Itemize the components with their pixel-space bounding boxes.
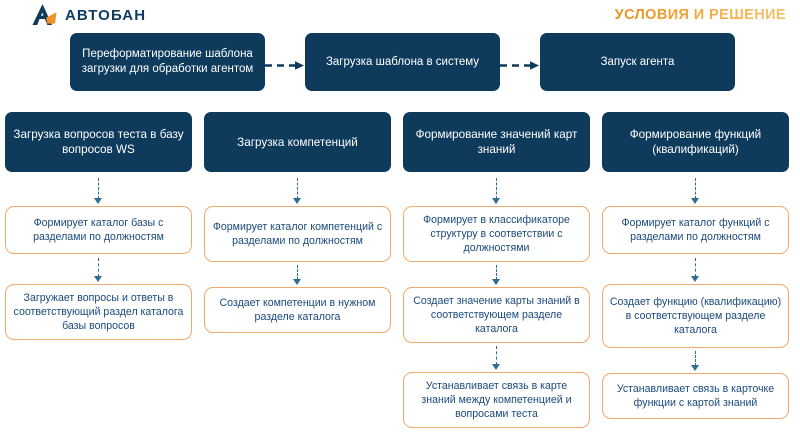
column-header-questions[interactable]: Загрузка вопросов теста в базу вопросов … xyxy=(5,112,192,172)
column-header-functions[interactable]: Формирование функций (квалификаций) xyxy=(602,112,789,172)
connector-col3-head-to-step1 xyxy=(492,178,501,204)
connector-col2-step1-to-step2 xyxy=(293,265,302,285)
page-header: АВТОБАН УСЛОВИЯ И РЕШЕНИЕ xyxy=(0,0,800,34)
dashed-arrow-right-icon-1 xyxy=(264,61,305,70)
top-process-box-2[interactable]: Загрузка шаблона в систему xyxy=(305,33,500,91)
brand-logo-text: АВТОБАН xyxy=(65,7,146,24)
top-process-box-1[interactable]: Переформатирование шаблона загрузки для … xyxy=(70,33,265,91)
connector-col1-step1-to-step2 xyxy=(94,258,103,282)
step-card-col4-2[interactable]: Создает функцию (квалификацию) в соответ… xyxy=(602,284,789,348)
top-process-row: Переформатирование шаблона загрузки для … xyxy=(0,33,800,95)
top-process-box-3[interactable]: Запуск агента xyxy=(540,33,735,91)
step-card-col3-1[interactable]: Формирует в классификаторе структуру в с… xyxy=(403,206,590,262)
column-header-row: Загрузка вопросов теста в базу вопросов … xyxy=(0,112,800,176)
step-card-col3-3[interactable]: Устанавливает связь в карте знаний между… xyxy=(403,372,590,428)
connector-col3-step1-to-step2 xyxy=(492,265,501,285)
step-card-col1-2[interactable]: Загружает вопросы и ответы в соответству… xyxy=(5,284,192,340)
column-header-knowledge-maps[interactable]: Формирование значений карт знаний xyxy=(403,112,590,172)
dashed-arrow-right-icon-2 xyxy=(499,61,540,70)
step-card-col2-2[interactable]: Создает компетенции в нужном разделе кат… xyxy=(204,287,391,333)
step-card-col3-2[interactable]: Создает значение карты знаний в соответс… xyxy=(403,287,590,343)
brand-logo: АВТОБАН xyxy=(30,3,146,27)
autoban-logo-mark-icon xyxy=(30,3,58,27)
step-card-col4-3[interactable]: Устанавливает связь в карточке функции с… xyxy=(602,373,789,419)
connector-col3-step2-to-step3 xyxy=(492,346,501,370)
step-card-col4-1[interactable]: Формирует каталог функций с разделами по… xyxy=(602,206,789,254)
connector-col4-step1-to-step2 xyxy=(691,258,700,282)
connector-col4-head-to-step1 xyxy=(691,178,700,204)
connector-col1-head-to-step1 xyxy=(94,178,103,204)
page-title: УСЛОВИЯ И РЕШЕНИЕ xyxy=(615,7,786,23)
step-card-col2-1[interactable]: Формирует каталог компетенций с разделам… xyxy=(204,206,391,262)
step-card-col1-1[interactable]: Формирует каталог базы с разделами по до… xyxy=(5,206,192,254)
connector-col4-step2-to-step3 xyxy=(691,351,700,371)
column-header-competencies[interactable]: Загрузка компетенций xyxy=(204,112,391,172)
connector-col2-head-to-step1 xyxy=(293,178,302,204)
